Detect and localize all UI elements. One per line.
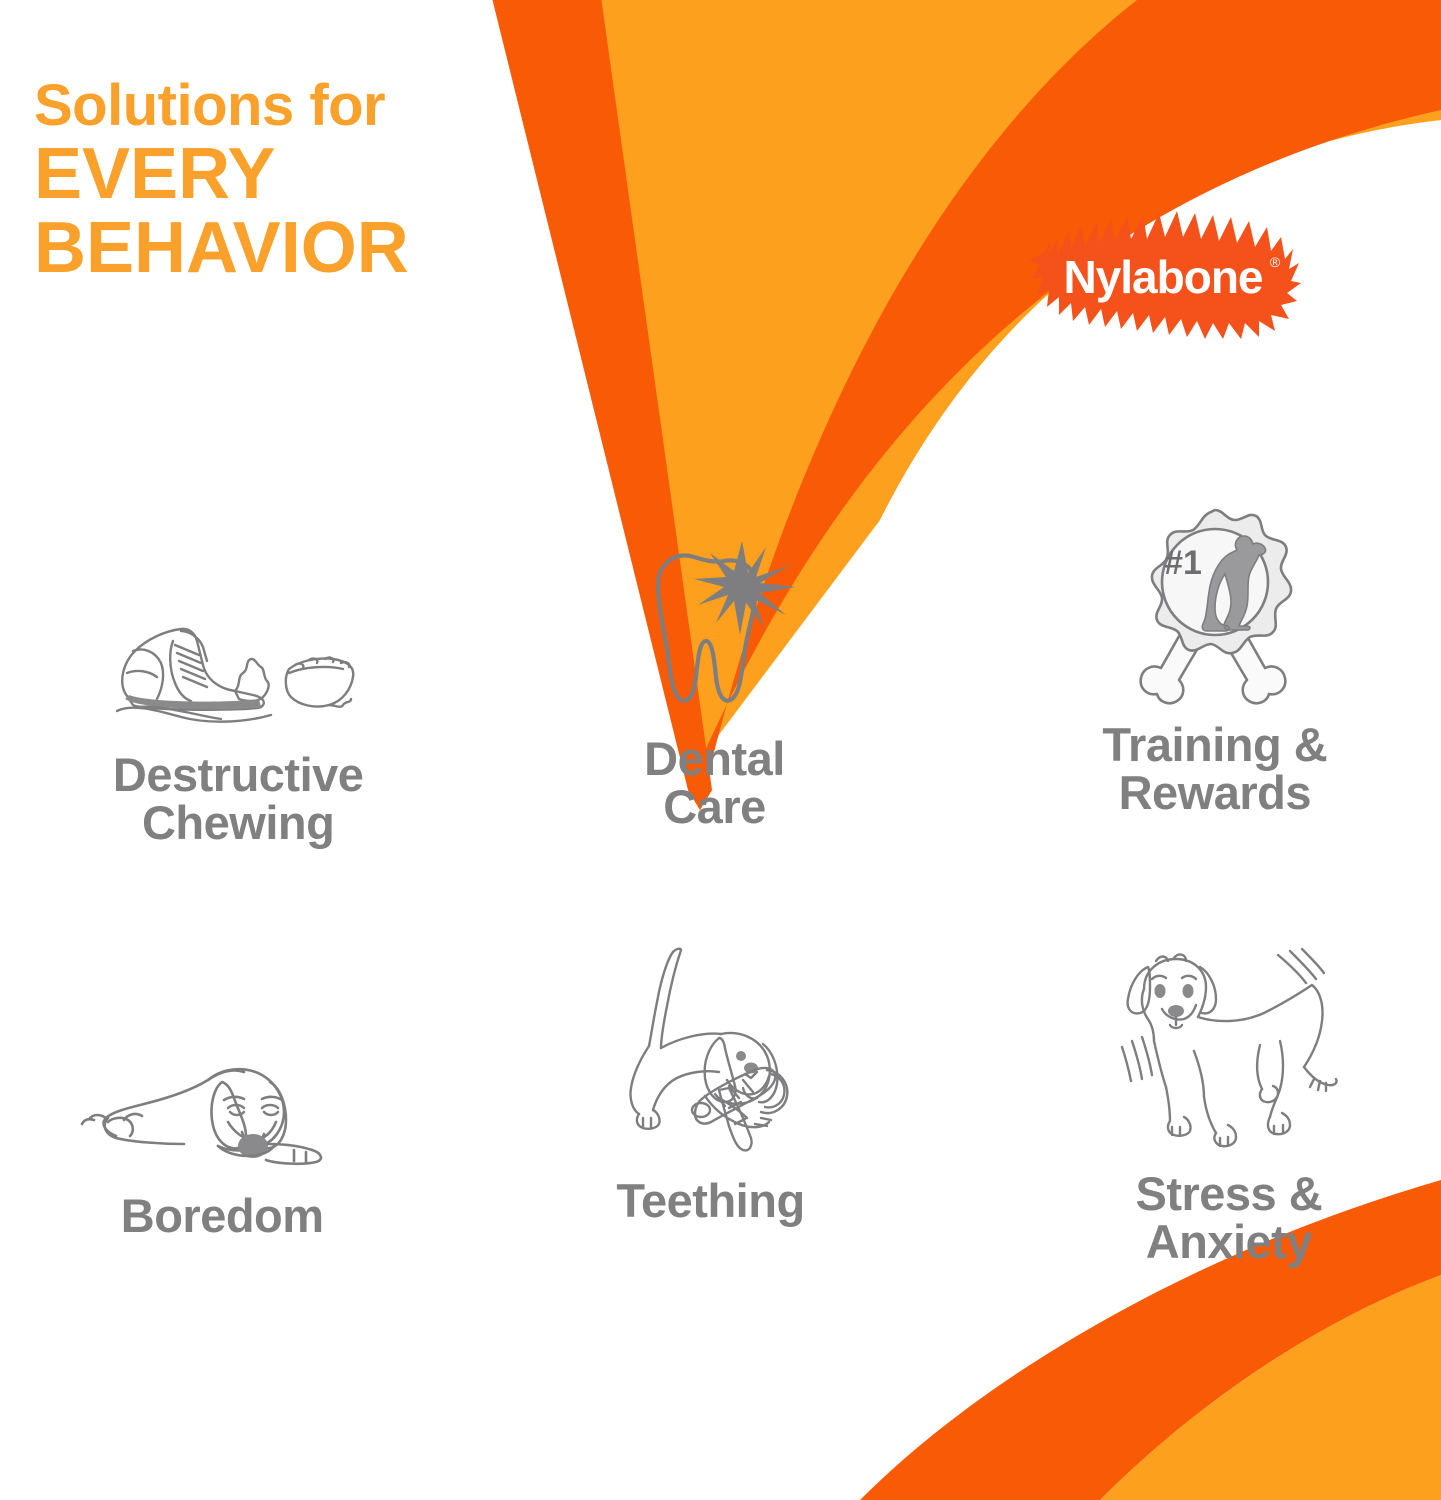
behavior-item-training-rewards[interactable]: #1 Training & Rewards bbox=[975, 497, 1441, 917]
behavior-label-stress-anxiety: Stress & Anxiety bbox=[1135, 1170, 1322, 1267]
behavior-grid: Destructive Chewing Dental Care bbox=[0, 505, 1441, 1320]
lying-bored-puppy-icon bbox=[0, 973, 462, 1178]
anxious-trembling-dog-icon bbox=[989, 931, 1441, 1156]
sparkle-glyph bbox=[694, 541, 796, 635]
behavior-item-teething[interactable]: Teething bbox=[470, 933, 950, 1328]
behavior-label-dental-care: Dental Care bbox=[644, 735, 785, 832]
nylabone-logo: Nylabone ® bbox=[1013, 197, 1313, 357]
infographic-canvas: Solutions for EVERY BEHAVIOR Nylabone ® bbox=[0, 0, 1441, 1500]
sparkling-tooth-icon bbox=[474, 511, 954, 721]
behavior-item-stress-anxiety[interactable]: Stress & Anxiety bbox=[989, 931, 1441, 1326]
behavior-item-boredom[interactable]: Boredom bbox=[0, 973, 462, 1368]
puppy-chewing-toy-icon bbox=[470, 933, 950, 1163]
behavior-label-destructive-chewing: Destructive Chewing bbox=[113, 751, 364, 848]
award-rosette-dog-icon: #1 bbox=[975, 497, 1441, 707]
behavior-item-destructive-chewing[interactable]: Destructive Chewing bbox=[0, 527, 478, 947]
chewed-shoe-icon bbox=[0, 527, 478, 737]
behavior-label-boredom: Boredom bbox=[121, 1192, 324, 1240]
headline-line-2: EVERY bbox=[34, 139, 594, 210]
nylabone-logo-mark: Nylabone ® bbox=[1013, 197, 1313, 357]
behavior-label-training-rewards: Training & Rewards bbox=[1102, 721, 1327, 818]
logo-registered-mark: ® bbox=[1270, 254, 1281, 270]
logo-wordmark: Nylabone bbox=[1063, 251, 1262, 303]
badge-rank-label: #1 bbox=[1164, 544, 1202, 582]
behavior-label-teething: Teething bbox=[616, 1177, 804, 1225]
headline-line-3: BEHAVIOR bbox=[34, 213, 594, 284]
headline-line-1: Solutions for bbox=[34, 78, 594, 135]
headline-block: Solutions for EVERY BEHAVIOR bbox=[34, 78, 594, 284]
behavior-item-dental-care[interactable]: Dental Care bbox=[474, 507, 954, 927]
